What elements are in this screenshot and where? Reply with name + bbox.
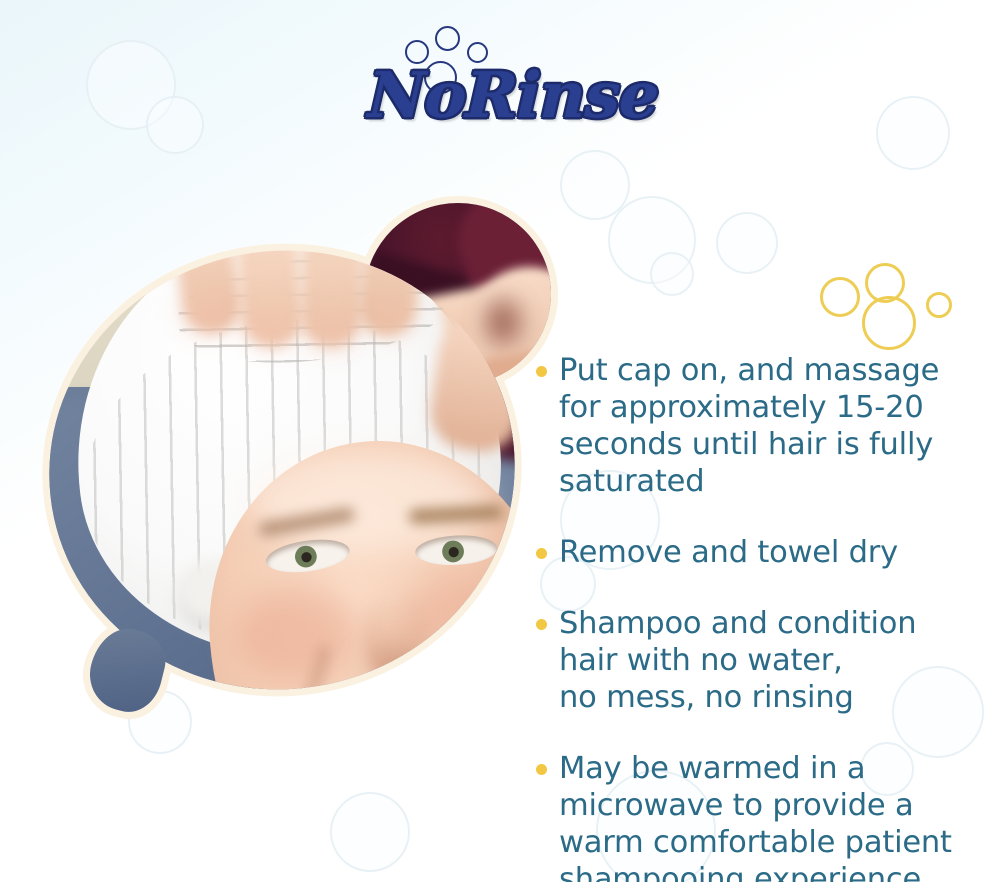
list-item: Remove and towel dry (536, 534, 988, 571)
decor-ring-icon (820, 277, 860, 317)
watermark-bubble (330, 792, 410, 872)
logo-bubble-icon (435, 26, 460, 51)
watermark-bubble (146, 96, 204, 154)
watermark-bubble (86, 40, 176, 130)
watermark-bubble (716, 212, 778, 274)
list-item-text: May be warmed in a microwave to provide … (559, 750, 952, 882)
list-item-text: Shampoo and condition hair with no water… (559, 605, 916, 716)
decor-ring-icon (926, 292, 952, 318)
hero-photo (28, 186, 558, 746)
list-item: Shampoo and condition hair with no water… (536, 605, 988, 716)
bullet-dot-icon (536, 764, 547, 775)
list-item: Put cap on, and massage for approximatel… (536, 352, 988, 500)
photo-main-content (18, 217, 547, 723)
list-item-text: Remove and towel dry (559, 534, 898, 571)
watermark-bubble (876, 96, 950, 170)
watermark-bubble (560, 150, 630, 220)
bullet-dot-icon (536, 548, 547, 559)
poster-root: NoRinse (0, 0, 1000, 882)
bullet-dot-icon (536, 619, 547, 630)
instruction-list: Put cap on, and massage for approximatel… (536, 352, 988, 882)
list-item-text: Put cap on, and massage for approximatel… (559, 352, 939, 500)
bullet-dot-icon (536, 366, 547, 377)
list-item: May be warmed in a microwave to provide … (536, 750, 988, 882)
watermark-bubble (608, 196, 696, 284)
logo-wordmark: NoRinse (367, 64, 639, 127)
brand-logo: NoRinse (368, 18, 638, 138)
watermark-bubble (650, 252, 694, 296)
decor-ring-icon (862, 296, 916, 350)
